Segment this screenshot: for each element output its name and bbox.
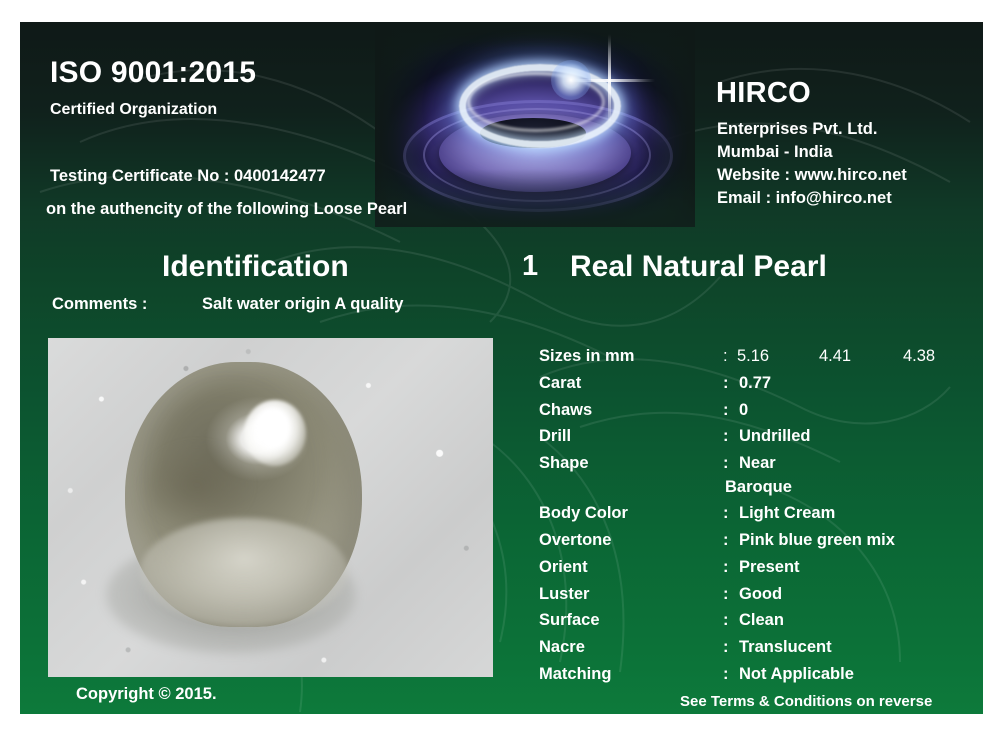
- row-label: Matching: [539, 665, 611, 684]
- row-colon: :: [723, 558, 729, 577]
- table-row: Orient : Present: [539, 558, 983, 585]
- row-label: Carat: [539, 374, 581, 393]
- pearl-lower-sheen: [140, 518, 348, 626]
- row-value: 0.77: [739, 374, 771, 393]
- row-label: Overtone: [539, 531, 611, 550]
- row-value: Present: [739, 558, 800, 577]
- comments-label: Comments :: [52, 295, 147, 314]
- company-legal-name: Enterprises Pvt. Ltd.: [717, 118, 907, 141]
- row-colon: :: [723, 347, 728, 366]
- row-value: Not Applicable: [739, 665, 854, 684]
- table-row: Matching : Not Applicable: [539, 665, 983, 692]
- comments-value: Salt water origin A quality: [202, 295, 403, 314]
- table-row: Overtone : Pink blue green mix: [539, 531, 983, 558]
- table-row: Sizes in mm : 5.16 4.41 4.38: [539, 347, 983, 374]
- row-value: Translucent: [739, 638, 832, 657]
- row-value: Good: [739, 585, 782, 604]
- row-value: 0: [739, 401, 748, 420]
- pearl-properties-table: Sizes in mm : 5.16 4.41 4.38 Carat : 0.7…: [539, 347, 983, 692]
- row-colon: :: [723, 454, 729, 473]
- copyright-notice: Copyright © 2015.: [76, 685, 217, 704]
- terms-and-conditions-note: See Terms & Conditions on reverse: [680, 693, 932, 710]
- row-value: Clean: [739, 611, 784, 630]
- row-label: Chaws: [539, 401, 592, 420]
- row-label: Nacre: [539, 638, 585, 657]
- row-colon: :: [723, 638, 729, 657]
- row-label: Drill: [539, 427, 571, 446]
- row-value-wrapped: Baroque: [725, 478, 792, 497]
- row-colon: :: [723, 427, 729, 446]
- table-row: Chaws : 0: [539, 401, 983, 428]
- company-contact-block: Enterprises Pvt. Ltd. Mumbai - India Web…: [717, 118, 907, 210]
- row-colon: :: [723, 665, 729, 684]
- row-colon: :: [723, 611, 729, 630]
- glowing-pearl-emblem-icon: [375, 22, 695, 227]
- row-label: Surface: [539, 611, 600, 630]
- testing-certificate-number: Testing Certificate No : 0400142477: [50, 167, 326, 186]
- iso-certified-subtitle: Certified Organization: [50, 101, 217, 119]
- table-row: Carat : 0.77: [539, 374, 983, 401]
- row-value: Undrilled: [739, 427, 811, 446]
- table-row: Shape : Near Baroque: [539, 454, 983, 504]
- row-label: Shape: [539, 454, 589, 473]
- company-website[interactable]: Website : www.hirco.net: [717, 164, 907, 187]
- company-email[interactable]: Email : info@hirco.net: [717, 187, 907, 210]
- pearl-certificate-panel: ISO 9001:2015 Certified Organization Tes…: [20, 22, 983, 714]
- row-label: Luster: [539, 585, 589, 604]
- row-colon: :: [723, 401, 729, 420]
- row-label: Orient: [539, 558, 588, 577]
- pearl-specular-highlight: [244, 400, 306, 466]
- company-location: Mumbai - India: [717, 141, 907, 164]
- table-row: Surface : Clean: [539, 611, 983, 638]
- company-brand-name: HIRCO: [716, 77, 811, 110]
- item-identification-result: Real Natural Pearl: [570, 250, 827, 284]
- row-colon: :: [723, 585, 729, 604]
- row-colon: :: [723, 504, 729, 523]
- identification-heading: Identification: [162, 250, 349, 284]
- row-colon: :: [723, 531, 729, 550]
- row-colon: :: [723, 374, 729, 393]
- row-value: Light Cream: [739, 504, 835, 523]
- row-value-2: 4.41: [819, 347, 851, 366]
- loose-pearl-photograph: [48, 338, 493, 677]
- row-value: Pink blue green mix: [739, 531, 895, 550]
- iso-standard-title: ISO 9001:2015: [50, 56, 256, 90]
- authenticity-statement: on the authencity of the following Loose…: [46, 200, 407, 219]
- table-row: Nacre : Translucent: [539, 638, 983, 665]
- row-value: Near: [739, 454, 776, 473]
- table-row: Luster : Good: [539, 585, 983, 612]
- row-value-3: 4.38: [903, 347, 935, 366]
- table-row: Body Color : Light Cream: [539, 504, 983, 531]
- item-number: 1: [522, 250, 538, 283]
- row-value: 5.16: [737, 347, 769, 366]
- row-label: Body Color: [539, 504, 628, 523]
- pearl-dark-zone: [148, 448, 246, 522]
- row-label: Sizes in mm: [539, 347, 634, 366]
- table-row: Drill : Undrilled: [539, 427, 983, 454]
